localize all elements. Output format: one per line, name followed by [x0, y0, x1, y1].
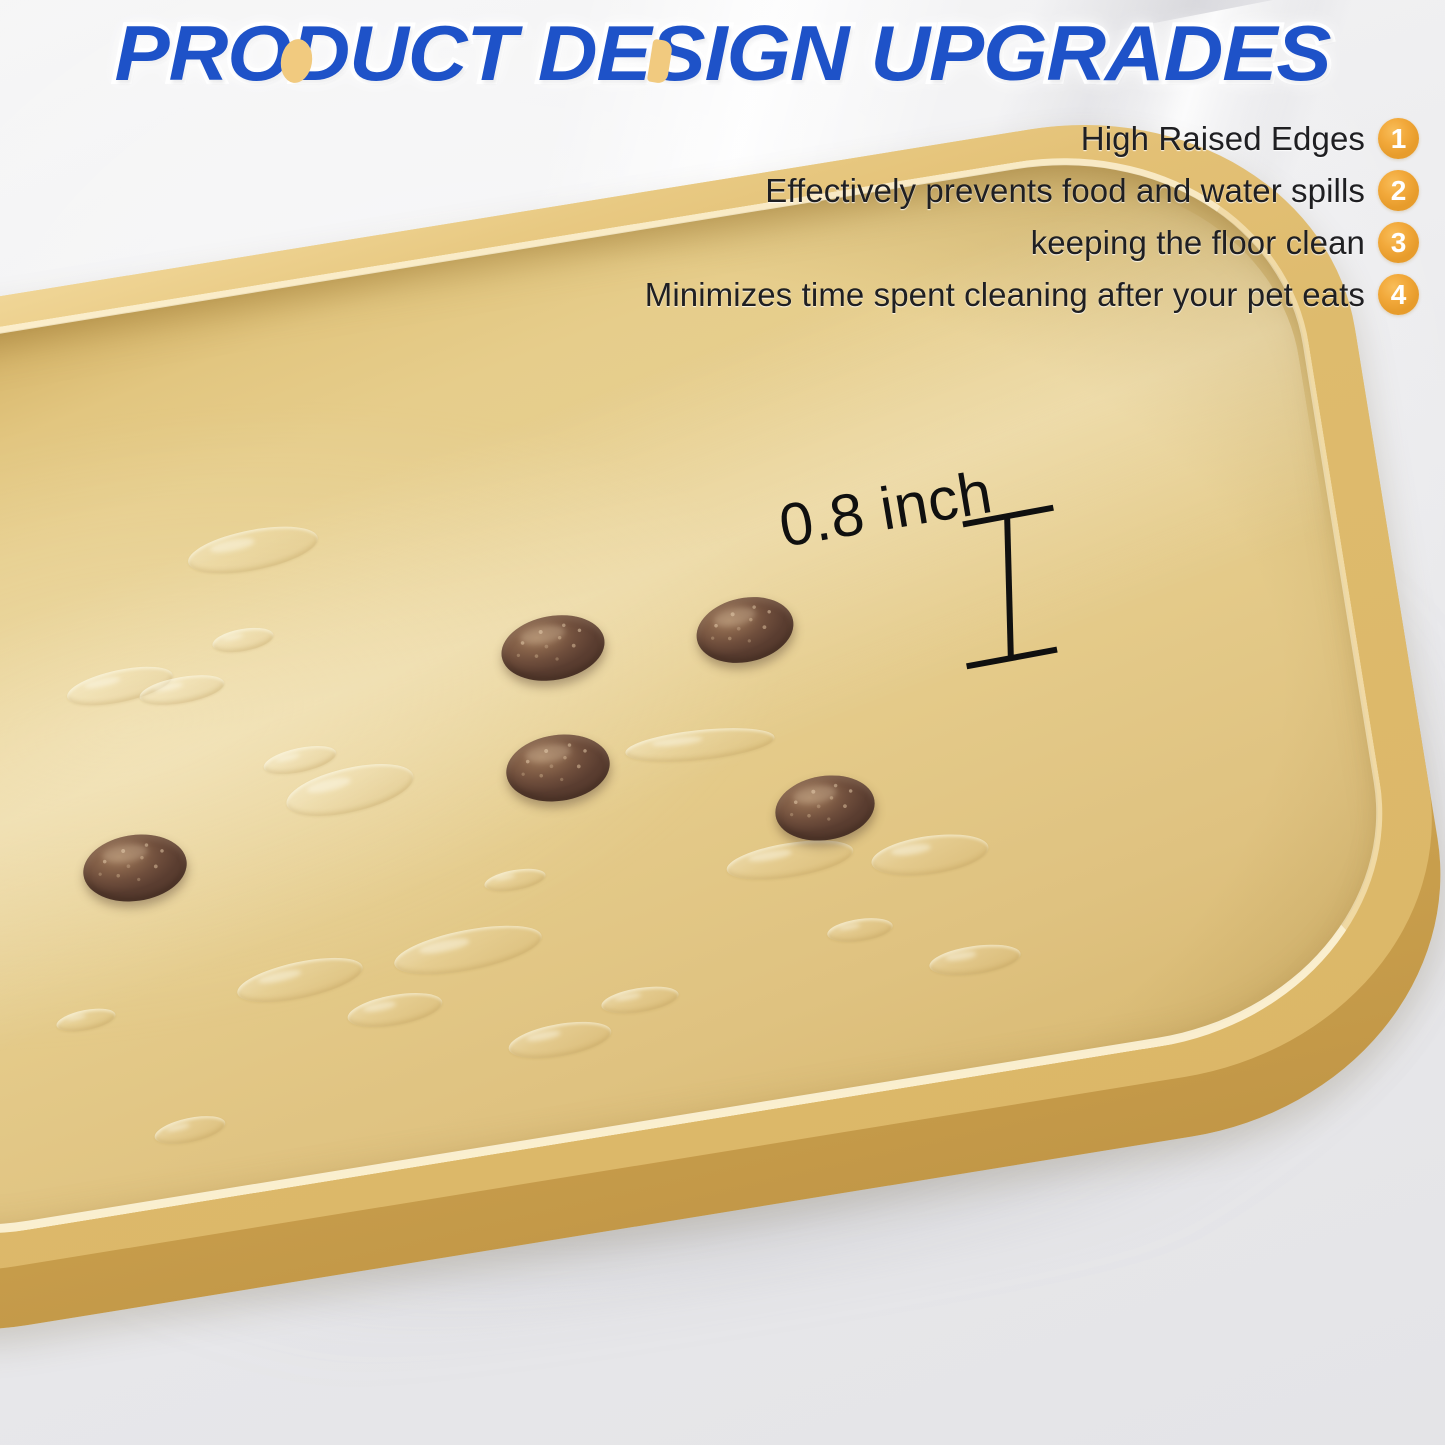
feature-item-2: Effectively prevents food and water spil… [239, 170, 1419, 211]
feature-list: High Raised Edges 1 Effectively prevents… [239, 118, 1419, 315]
feature-label: High Raised Edges [1081, 120, 1365, 158]
dimension-measure-icon [958, 504, 1062, 672]
product-marketing-image: PRODUCT DESIGN UPGRADES High Raised Edge… [0, 0, 1445, 1445]
feature-item-1: High Raised Edges 1 [239, 118, 1419, 159]
feature-item-4: Minimizes time spent cleaning after your… [239, 274, 1419, 315]
feature-number-badge: 4 [1378, 274, 1419, 315]
dimension-stem [1004, 517, 1014, 659]
feature-number-badge: 3 [1378, 222, 1419, 263]
page-title: PRODUCT DESIGN UPGRADES [0, 8, 1445, 99]
feature-label: Minimizes time spent cleaning after your… [645, 276, 1365, 314]
feature-label: Effectively prevents food and water spil… [765, 172, 1365, 210]
feature-number-badge: 2 [1378, 170, 1419, 211]
feature-number-badge: 1 [1378, 118, 1419, 159]
feature-item-3: keeping the floor clean 3 [239, 222, 1419, 263]
feature-label: keeping the floor clean [1031, 224, 1365, 262]
